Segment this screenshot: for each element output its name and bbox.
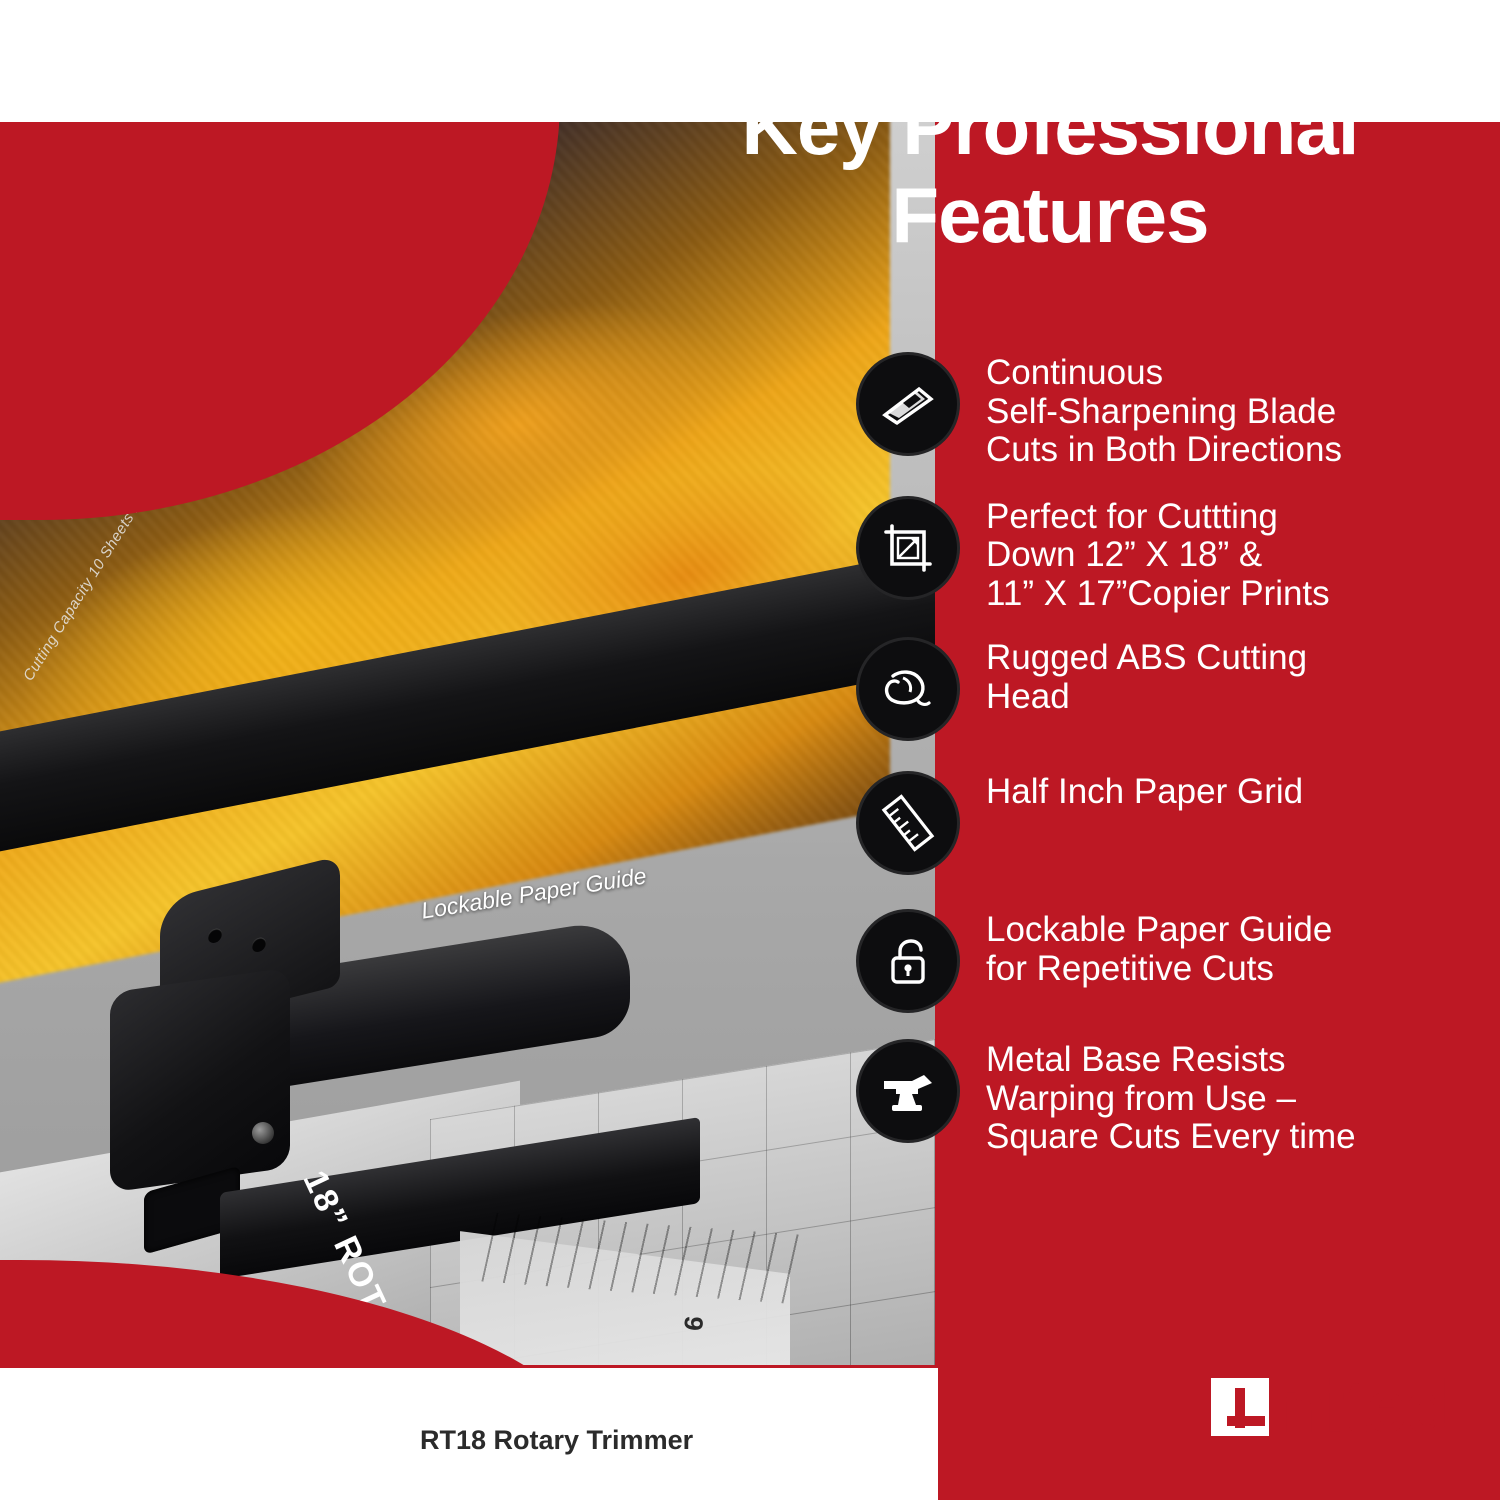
list-item-label: Rugged ABS Cutting Head: [986, 637, 1307, 716]
feature-line: Self-Sharpening Blade: [986, 393, 1342, 432]
feature-line: Warping from Use –: [986, 1080, 1356, 1119]
product-photo: Cutting Capacity 10 Sheets 20lb Bond 18”…: [0, 120, 935, 1365]
feature-line: Head: [986, 678, 1307, 717]
feature-line: Rugged ABS Cutting: [986, 639, 1307, 678]
list-item-label: Metal Base Resists Warping from Use – Sq…: [986, 1039, 1356, 1157]
page-title-line1: Key Professional: [742, 83, 1359, 171]
cutting-head-block: [110, 967, 290, 1192]
feature-line: Down 12” X 18” &: [986, 536, 1330, 575]
feature-line: Perfect for Cuttting: [986, 498, 1330, 537]
feature-line: Half Inch Paper Grid: [986, 773, 1303, 812]
flexed-arm-icon: [856, 637, 960, 741]
page-title: Key Professional Features: [620, 88, 1480, 254]
list-item: Rugged ABS Cutting Head: [856, 637, 1476, 741]
ruler-icon: [856, 771, 960, 875]
united-logo-mark-icon: [1203, 1370, 1277, 1444]
feature-list: Continuous Self-Sharpening Blade Cuts in…: [856, 352, 1476, 1187]
crop-square-icon: [856, 496, 960, 600]
list-item-label: Half Inch Paper Grid: [986, 771, 1303, 812]
feature-line: Lockable Paper Guide: [986, 911, 1332, 950]
feature-line: Cuts in Both Directions: [986, 431, 1342, 470]
open-lock-icon: [856, 909, 960, 1013]
feature-line: 11” X 17”Copier Prints: [986, 575, 1330, 614]
ruler-number: 9: [677, 1315, 709, 1333]
brand-logo-text: nited: [1281, 1374, 1448, 1441]
list-item-label: Lockable Paper Guide for Repetitive Cuts: [986, 909, 1332, 988]
product-name-caption: RT18 Rotary Trimmer: [420, 1425, 693, 1456]
feature-line: Metal Base Resists: [986, 1041, 1356, 1080]
bracket-hole-icon: [252, 936, 266, 953]
bracket-hole-icon: [208, 927, 222, 944]
feature-line: Continuous: [986, 354, 1342, 393]
list-item: Perfect for Cuttting Down 12” X 18” & 11…: [856, 496, 1476, 614]
list-item: Half Inch Paper Grid: [856, 771, 1476, 875]
list-item-label: Perfect for Cuttting Down 12” X 18” & 11…: [986, 496, 1330, 614]
page-title-line2: Features: [620, 176, 1480, 254]
list-item: Lockable Paper Guide for Repetitive Cuts: [856, 909, 1476, 1013]
list-item: Continuous Self-Sharpening Blade Cuts in…: [856, 352, 1476, 470]
blade-sharpener-icon: [856, 352, 960, 456]
head-screw-icon: [252, 1122, 274, 1144]
feature-line: for Repetitive Cuts: [986, 950, 1332, 989]
list-item-label: Continuous Self-Sharpening Blade Cuts in…: [986, 352, 1342, 470]
brand-logo: nited: [1203, 1370, 1448, 1444]
list-item: Metal Base Resists Warping from Use – Sq…: [856, 1039, 1476, 1157]
anvil-icon: [856, 1039, 960, 1143]
feature-line: Square Cuts Every time: [986, 1118, 1356, 1157]
